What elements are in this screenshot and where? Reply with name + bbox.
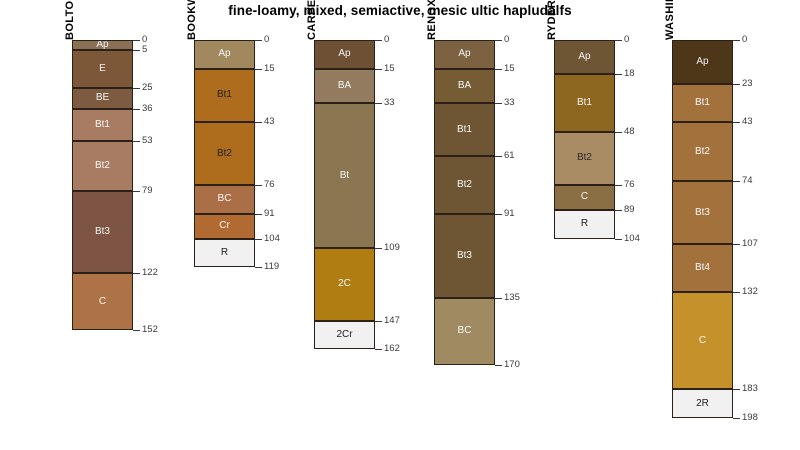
depth-tick-label: 132 [742, 287, 758, 297]
depth-tick-label: 15 [504, 64, 515, 74]
depth-tick-label: 170 [504, 360, 520, 370]
horizon-bt1: Bt1 [554, 74, 615, 131]
depth-tick [495, 156, 502, 157]
horizon-label: BC [458, 326, 472, 336]
depth-tick-label: 0 [264, 35, 269, 45]
depth-tick-label: 79 [142, 186, 153, 196]
depth-tick-label: 15 [264, 64, 275, 74]
horizon-ap: Ap [672, 40, 733, 84]
depth-tick-label: 43 [742, 117, 753, 127]
depth-tick [133, 141, 140, 142]
profile-column-ryder: ApBt1Bt2CR018487689104 [554, 40, 615, 239]
horizon-label: Bt2 [457, 180, 472, 190]
depth-tick-label: 76 [624, 180, 635, 190]
depth-tick-label: 33 [504, 98, 515, 108]
depth-tick [375, 248, 382, 249]
horizon-bt1: Bt1 [434, 103, 495, 156]
depth-tick [495, 103, 502, 104]
depth-tick-label: 74 [742, 176, 753, 186]
depth-tick-label: 15 [384, 64, 395, 74]
horizon-label: 2R [696, 399, 709, 409]
profile-name-ryder: RYDER [546, 0, 558, 40]
horizon-bt2: Bt2 [72, 141, 133, 191]
depth-tick-label: 0 [624, 35, 629, 45]
horizon-label: Bt1 [577, 98, 592, 108]
profile-column-bolton: ApEBEBt1Bt2Bt3C0525365379122152 [72, 40, 133, 330]
horizon-label: Bt2 [577, 153, 592, 163]
horizon-bt2: Bt2 [554, 132, 615, 185]
depth-tick-label: 89 [624, 205, 635, 215]
horizon-label: Ap [696, 57, 708, 67]
depth-tick [133, 273, 140, 274]
depth-tick-label: 122 [142, 268, 158, 278]
profile-name-carpenter: CARPENTER [306, 0, 318, 40]
depth-tick [495, 69, 502, 70]
depth-tick [375, 103, 382, 104]
profile-name-washington: WASHINGTON [664, 0, 676, 40]
depth-tick [375, 69, 382, 70]
depth-tick-label: 33 [384, 98, 395, 108]
horizon-ap: Ap [554, 40, 615, 74]
depth-tick-label: 107 [742, 239, 758, 249]
horizon-label: C [581, 192, 588, 202]
horizon-ap: Ap [194, 40, 255, 69]
horizon-c: C [672, 292, 733, 389]
profile-column-carpenter: ApBABt2C2Cr01533109147162 [314, 40, 375, 349]
depth-tick [375, 40, 382, 41]
horizon-label: Bt2 [95, 161, 110, 171]
depth-tick [733, 181, 740, 182]
depth-tick-label: 135 [504, 293, 520, 303]
horizon-be: BE [72, 88, 133, 109]
horizon-label: 2C [338, 279, 351, 289]
profile-name-bookwood: BOOKWOOD [186, 0, 198, 40]
horizon-2cr: 2Cr [314, 321, 375, 350]
horizon-ap: Ap [314, 40, 375, 69]
depth-tick [615, 210, 622, 211]
depth-tick-label: 104 [264, 234, 280, 244]
horizon-ba: BA [314, 69, 375, 103]
horizon-c: C [554, 185, 615, 210]
horizon-label: Ap [578, 52, 590, 62]
horizon-bt2: Bt2 [194, 122, 255, 185]
horizon-label: Bt3 [695, 208, 710, 218]
horizon-bt1: Bt1 [72, 109, 133, 141]
horizon-bt4: Bt4 [672, 244, 733, 292]
depth-tick-label: 152 [142, 325, 158, 335]
horizon-r: R [554, 210, 615, 239]
depth-tick [255, 214, 262, 215]
depth-tick-label: 53 [142, 136, 153, 146]
depth-tick [133, 191, 140, 192]
horizon-label: Ap [96, 40, 108, 50]
depth-tick-label: 36 [142, 104, 153, 114]
depth-tick [495, 40, 502, 41]
soil-profile-chart: fine-loamy, mixed, semiactive, mesic ult… [0, 0, 800, 450]
depth-tick-label: 91 [504, 209, 515, 219]
depth-tick [255, 40, 262, 41]
horizon-bt1: Bt1 [672, 84, 733, 122]
depth-tick [733, 389, 740, 390]
depth-tick [133, 330, 140, 331]
depth-tick-label: 43 [264, 117, 275, 127]
depth-tick-label: 61 [504, 151, 515, 161]
depth-tick [133, 50, 140, 51]
horizon-bc: BC [194, 185, 255, 214]
depth-tick [495, 298, 502, 299]
horizon-label: C [699, 336, 706, 346]
depth-tick [733, 40, 740, 41]
depth-tick-label: 104 [624, 234, 640, 244]
profile-column-renox: ApBABt1Bt2Bt3BC015336191135170 [434, 40, 495, 365]
horizon-r: R [194, 239, 255, 268]
horizon-label: 2Cr [336, 330, 352, 340]
horizon-label: BC [218, 194, 232, 204]
depth-tick [495, 214, 502, 215]
depth-tick-label: 183 [742, 384, 758, 394]
horizon-ap: Ap [72, 40, 133, 50]
depth-tick [375, 321, 382, 322]
depth-tick [255, 122, 262, 123]
horizon-bt1: Bt1 [194, 69, 255, 122]
depth-tick-label: 76 [264, 180, 275, 190]
horizon-label: Bt3 [95, 227, 110, 237]
horizon-bt3: Bt3 [72, 191, 133, 273]
depth-tick [255, 267, 262, 268]
depth-tick-label: 147 [384, 316, 400, 326]
depth-tick-label: 91 [264, 209, 275, 219]
depth-tick [733, 292, 740, 293]
horizon-label: C [99, 297, 106, 307]
horizon-label: Bt4 [695, 263, 710, 273]
depth-tick [255, 69, 262, 70]
depth-tick-label: 0 [742, 35, 747, 45]
depth-tick [495, 365, 502, 366]
horizon-label: Bt2 [217, 149, 232, 159]
horizon-2r: 2R [672, 389, 733, 418]
horizon-label: Bt1 [457, 125, 472, 135]
depth-tick [615, 74, 622, 75]
horizon-label: Ap [338, 49, 350, 59]
horizon-ap: Ap [434, 40, 495, 69]
horizon-bt2: Bt2 [672, 122, 733, 181]
horizon-label: Ap [218, 49, 230, 59]
profile-column-bookwood: ApBt1Bt2BCCrR015437691104119 [194, 40, 255, 267]
horizon-e: E [72, 50, 133, 88]
horizon-2c: 2C [314, 248, 375, 321]
profile-name-renox: RENOX [426, 0, 438, 40]
depth-tick [733, 122, 740, 123]
horizon-label: Ap [458, 49, 470, 59]
depth-tick-label: 18 [624, 69, 635, 79]
depth-tick [255, 185, 262, 186]
horizon-bt3: Bt3 [672, 181, 733, 244]
horizon-label: BA [458, 81, 471, 91]
depth-tick-label: 23 [742, 79, 753, 89]
depth-tick [733, 84, 740, 85]
depth-tick [255, 239, 262, 240]
horizon-label: Bt2 [695, 147, 710, 157]
horizon-bc: BC [434, 298, 495, 365]
depth-tick [615, 239, 622, 240]
horizon-label: Bt1 [95, 120, 110, 130]
horizon-cr: Cr [194, 214, 255, 239]
depth-tick [615, 40, 622, 41]
horizon-label: BA [338, 81, 351, 91]
depth-tick [133, 88, 140, 89]
chart-title: fine-loamy, mixed, semiactive, mesic ult… [0, 3, 800, 18]
horizon-label: R [221, 248, 228, 258]
depth-tick-label: 25 [142, 83, 153, 93]
depth-tick-label: 119 [264, 262, 279, 272]
horizon-bt2: Bt2 [434, 156, 495, 213]
depth-tick-label: 48 [624, 127, 635, 137]
depth-tick [133, 40, 140, 41]
horizon-ba: BA [434, 69, 495, 103]
profile-column-washington: ApBt1Bt2Bt3Bt4C2R0234374107132183198 [672, 40, 733, 418]
depth-tick-label: 162 [384, 344, 400, 354]
depth-tick [733, 244, 740, 245]
horizon-bt: Bt [314, 103, 375, 248]
profile-name-bolton: BOLTON [64, 0, 76, 40]
horizon-label: Bt1 [695, 98, 710, 108]
horizon-label: E [99, 64, 106, 74]
horizon-label: Bt [340, 171, 349, 181]
horizon-label: Bt1 [217, 90, 232, 100]
horizon-label: Cr [219, 221, 230, 231]
depth-tick-label: 5 [142, 45, 147, 55]
horizon-label: Bt3 [457, 251, 472, 261]
depth-tick-label: 198 [742, 413, 758, 423]
depth-tick-label: 0 [384, 35, 389, 45]
horizon-label: BE [96, 93, 109, 103]
depth-tick-label: 109 [384, 243, 400, 253]
depth-tick [615, 185, 622, 186]
horizon-label: R [581, 219, 588, 229]
depth-tick [733, 418, 740, 419]
depth-tick [133, 109, 140, 110]
depth-tick-label: 0 [504, 35, 509, 45]
depth-tick [375, 349, 382, 350]
depth-tick [615, 132, 622, 133]
horizon-c: C [72, 273, 133, 330]
horizon-bt3: Bt3 [434, 214, 495, 298]
